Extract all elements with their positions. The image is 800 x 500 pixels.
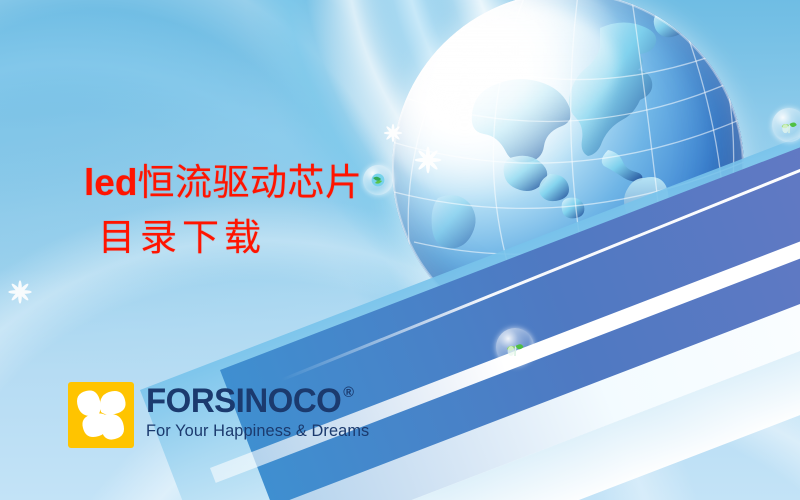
flower-sparkle-icon: [412, 144, 444, 176]
brand-logo[interactable]: FORSINOCO® For Your Happiness & Dreams: [68, 382, 372, 448]
green-sprout-icon: [779, 115, 799, 135]
pinwheel-petals: [68, 382, 134, 448]
headline-latin: led: [84, 162, 137, 203]
brand-name-text: FORSINOCO: [146, 384, 341, 418]
green-sprout-icon: [504, 336, 526, 358]
headline-line-2: 目录下载: [98, 215, 362, 260]
logo-text-block: FORSINOCO® For Your Happiness & Dreams: [146, 382, 372, 441]
headline-cjk: 恒流驱动芯片: [137, 161, 362, 204]
four-petal-pinwheel-icon: [68, 382, 134, 448]
page-title: led恒流驱动芯片 目录下载: [84, 160, 362, 260]
brand-tagline: For Your Happiness & Dreams: [146, 422, 369, 441]
banner-canvas: led恒流驱动芯片 目录下载 FORSINOCO® For Your Happi…: [0, 0, 800, 500]
mini-globe-icon: [370, 172, 386, 188]
bubble-globe-icon: [363, 165, 393, 195]
registered-mark: ®: [343, 385, 353, 400]
flower-sparkle-icon: [6, 278, 34, 306]
flower-sparkle-icon: [382, 122, 404, 144]
headline-line-1: led恒流驱动芯片: [84, 160, 362, 205]
bubble-sprout-icon: [496, 328, 534, 366]
bubble-sprout-icon: [772, 108, 800, 142]
brand-name: FORSINOCO®: [146, 384, 365, 418]
